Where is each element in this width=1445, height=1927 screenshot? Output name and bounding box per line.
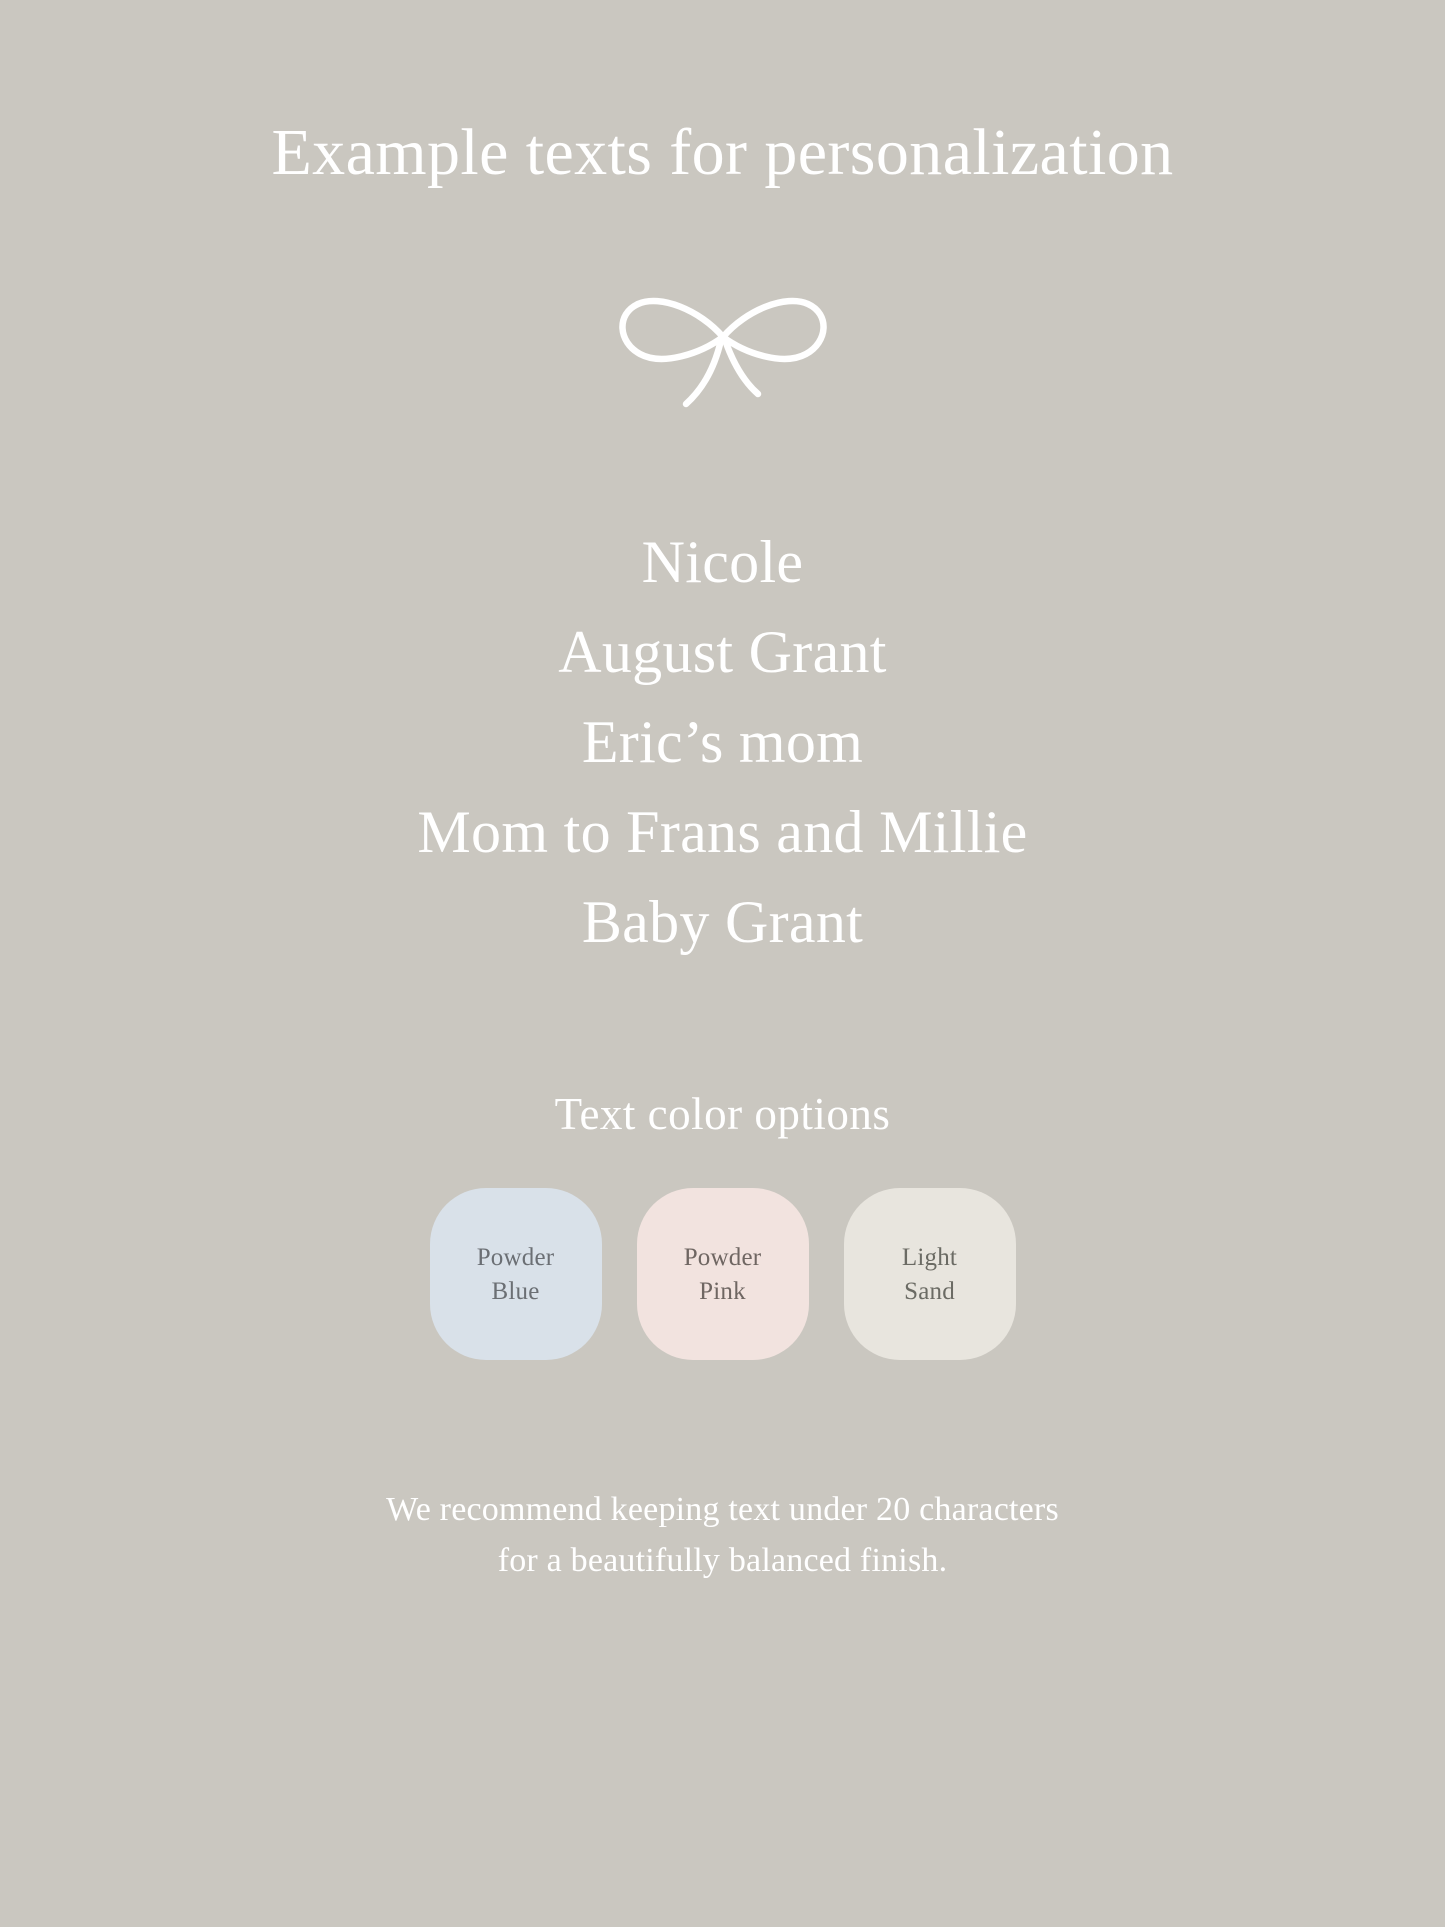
color-options-heading: Text color options <box>555 1088 891 1140</box>
example-text-item: August Grant <box>558 622 887 682</box>
swatch-label-line-2: Blue <box>491 1279 539 1304</box>
color-swatch-powder-pink[interactable]: Powder Pink <box>637 1188 809 1360</box>
swatch-label-line-1: Powder <box>477 1245 555 1270</box>
footnote-line-1: We recommend keeping text under 20 chara… <box>386 1484 1059 1535</box>
color-swatch-row: Powder Blue Powder Pink Light Sand <box>430 1188 1016 1360</box>
page-title: Example texts for personalization <box>271 118 1173 188</box>
example-text-item: Baby Grant <box>582 892 863 952</box>
example-text-list: Nicole August Grant Eric’s mom Mom to Fr… <box>417 532 1027 952</box>
example-text-item: Nicole <box>642 532 804 592</box>
footnote: We recommend keeping text under 20 chara… <box>386 1484 1059 1586</box>
example-text-item: Mom to Frans and Millie <box>417 802 1027 862</box>
example-text-item: Eric’s mom <box>582 712 863 772</box>
swatch-label-line-1: Light <box>902 1245 957 1270</box>
swatch-label-line-1: Powder <box>684 1245 762 1270</box>
bow-ribbon-icon <box>608 280 838 420</box>
color-swatch-light-sand[interactable]: Light Sand <box>844 1188 1016 1360</box>
swatch-label-line-2: Sand <box>904 1279 955 1304</box>
color-swatch-powder-blue[interactable]: Powder Blue <box>430 1188 602 1360</box>
footnote-line-2: for a beautifully balanced finish. <box>386 1535 1059 1586</box>
bow-divider <box>608 280 838 420</box>
swatch-label-line-2: Pink <box>699 1279 746 1304</box>
personalization-example-card: Example texts for personalization Nicole… <box>0 0 1445 1927</box>
